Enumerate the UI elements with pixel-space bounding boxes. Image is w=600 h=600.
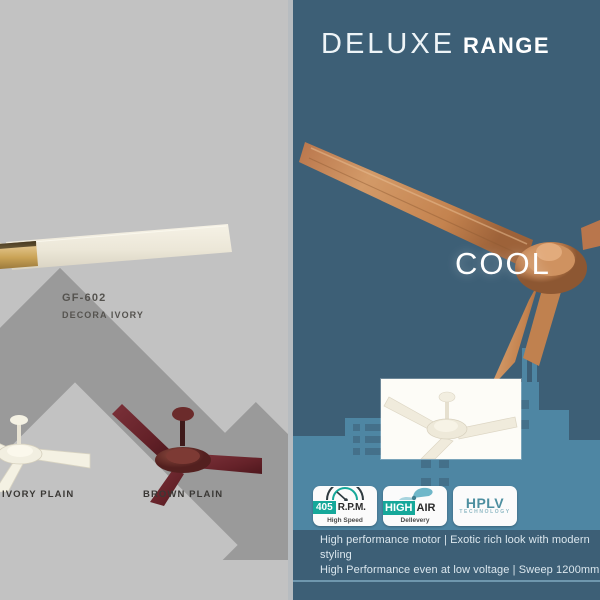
speedometer-icon [313, 487, 377, 501]
badge-hplv[interactable]: HPLV TECHNOLOGY [453, 486, 517, 526]
badge-air-unit: AIR [417, 502, 436, 514]
hero-word: COOL [455, 246, 551, 282]
left-product-panel: GF-602 DECORA IVORY [0, 0, 293, 600]
featured-product-name: DECORA IVORY [62, 310, 144, 320]
left-panel-bottom-strip [0, 578, 293, 600]
variant-label-brown-plain: BROWN PLAIN [143, 489, 223, 500]
inset-product-photo [381, 379, 521, 459]
variant-label-ivory-plain: IVORY PLAIN [2, 489, 74, 500]
headline: DELUXERANGE [321, 28, 550, 61]
badge-air-value: HIGH [383, 501, 415, 515]
right-hero-panel: DELUXERANGE [293, 0, 600, 600]
brochure-page: GF-602 DECORA IVORY [0, 0, 600, 600]
right-panel-bottom-strip [293, 580, 600, 600]
feature-badges: 405 R.P.M. High Speed HIGH AIR Dellevery [313, 486, 517, 526]
badge-rpm-caption: High Speed [313, 517, 377, 524]
ivory-plain-fan-image [0, 392, 94, 492]
feature-copy: High performance motor | Exotic rich loo… [320, 533, 600, 578]
badge-rpm-unit: R.P.M. [338, 502, 366, 513]
feature-line-1: High performance motor | Exotic rich loo… [320, 533, 600, 563]
fan-blade-icon [383, 487, 447, 501]
feature-line-2: High Performance even at low voltage | S… [320, 563, 600, 578]
headline-primary: DELUXE [321, 28, 455, 60]
hero-fan-image [293, 100, 600, 400]
badge-air-caption: Dellevery [383, 517, 447, 524]
badge-rpm-value: 405 [313, 501, 336, 514]
badge-rpm[interactable]: 405 R.P.M. High Speed [313, 486, 377, 526]
decora-ivory-fan-image [0, 200, 270, 300]
badge-hplv-unit: TECHNOLOGY [453, 509, 517, 515]
featured-product-code: GF-602 [62, 292, 107, 304]
headline-secondary: RANGE [463, 33, 550, 58]
inset-ivory-fan-image [381, 379, 521, 459]
badge-air-delivery[interactable]: HIGH AIR Dellevery [383, 486, 447, 526]
